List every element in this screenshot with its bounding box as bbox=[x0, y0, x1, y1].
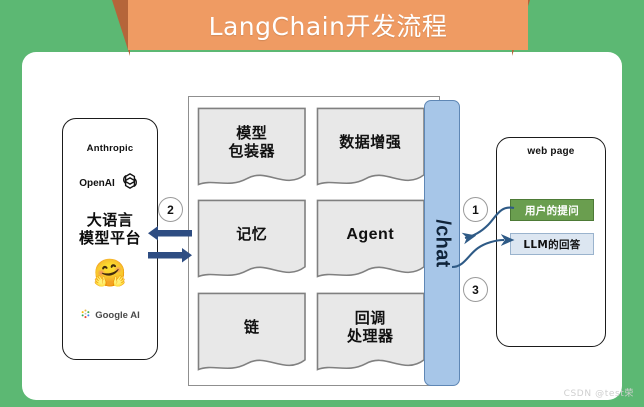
user-question-box[interactable]: 用户的提问 bbox=[510, 199, 594, 221]
module-model-wrapper-label: 模型 包装器 bbox=[197, 107, 307, 177]
openai-label: OpenAI bbox=[79, 178, 115, 189]
module-memory[interactable]: 记忆 bbox=[197, 199, 307, 282]
llm-answer-box[interactable]: LLM的回答 bbox=[510, 233, 594, 255]
ribbon-body: LangChain开发流程 bbox=[128, 0, 528, 50]
page-title: LangChain开发流程 bbox=[209, 7, 448, 43]
module-label-line1: 回调 bbox=[347, 309, 394, 327]
step-indicator-1: 1 bbox=[463, 197, 488, 222]
step-indicator-2: 2 bbox=[158, 197, 183, 222]
module-label-line2: 处理器 bbox=[347, 327, 394, 345]
module-label-line1: 链 bbox=[244, 318, 260, 336]
title-banner: LangChain开发流程 bbox=[0, 0, 644, 58]
anthropic-label: Anthropic bbox=[87, 143, 134, 154]
arrow-pair-llm-langchain bbox=[148, 222, 192, 268]
google-ai-logo-icon bbox=[80, 307, 91, 325]
langchain-core-panel: 模型 包装器 数据增强 记忆 bbox=[188, 96, 440, 386]
module-model-wrapper[interactable]: 模型 包装器 bbox=[197, 107, 307, 190]
module-callback-handler-label: 回调 处理器 bbox=[316, 292, 426, 362]
google-ai-label: Google AI bbox=[95, 310, 140, 321]
huggingface-icon: 🤗 bbox=[93, 260, 127, 287]
module-label-line1: Agent bbox=[346, 225, 394, 244]
module-chain-label: 链 bbox=[197, 292, 307, 362]
module-agent[interactable]: Agent bbox=[316, 199, 426, 282]
module-label-line1: 模型 bbox=[228, 124, 275, 142]
diagram-canvas: LangChain开发流程 Anthropic OpenAI 大语言 模型平台 bbox=[0, 0, 644, 407]
llm-platform-title: 大语言 模型平台 bbox=[79, 211, 141, 248]
module-label-line1: 数据增强 bbox=[339, 133, 401, 151]
module-agent-label: Agent bbox=[316, 199, 426, 269]
watermark: CSDN @test荣 bbox=[564, 386, 634, 399]
llm-platform-title-line1: 大语言 bbox=[79, 211, 141, 229]
web-page-title: web page bbox=[497, 146, 605, 157]
llm-platform-panel: Anthropic OpenAI 大语言 模型平台 🤗 bbox=[62, 118, 158, 360]
module-data-augmentation[interactable]: 数据增强 bbox=[316, 107, 426, 190]
google-row: Google AI bbox=[80, 307, 140, 325]
openai-row: OpenAI bbox=[79, 170, 141, 197]
llm-platform-title-line2: 模型平台 bbox=[79, 229, 141, 247]
module-chain[interactable]: 链 bbox=[197, 292, 307, 375]
chat-endpoint-label: /chat bbox=[431, 219, 454, 267]
openai-logo-icon bbox=[119, 170, 141, 197]
module-label-line2: 包装器 bbox=[228, 142, 275, 160]
step-indicator-3: 3 bbox=[463, 277, 488, 302]
module-memory-label: 记忆 bbox=[197, 199, 307, 269]
module-grid: 模型 包装器 数据增强 记忆 bbox=[197, 107, 425, 375]
module-callback-handler[interactable]: 回调 处理器 bbox=[316, 292, 426, 375]
module-data-augmentation-label: 数据增强 bbox=[316, 107, 426, 177]
module-label-line1: 记忆 bbox=[236, 225, 267, 243]
